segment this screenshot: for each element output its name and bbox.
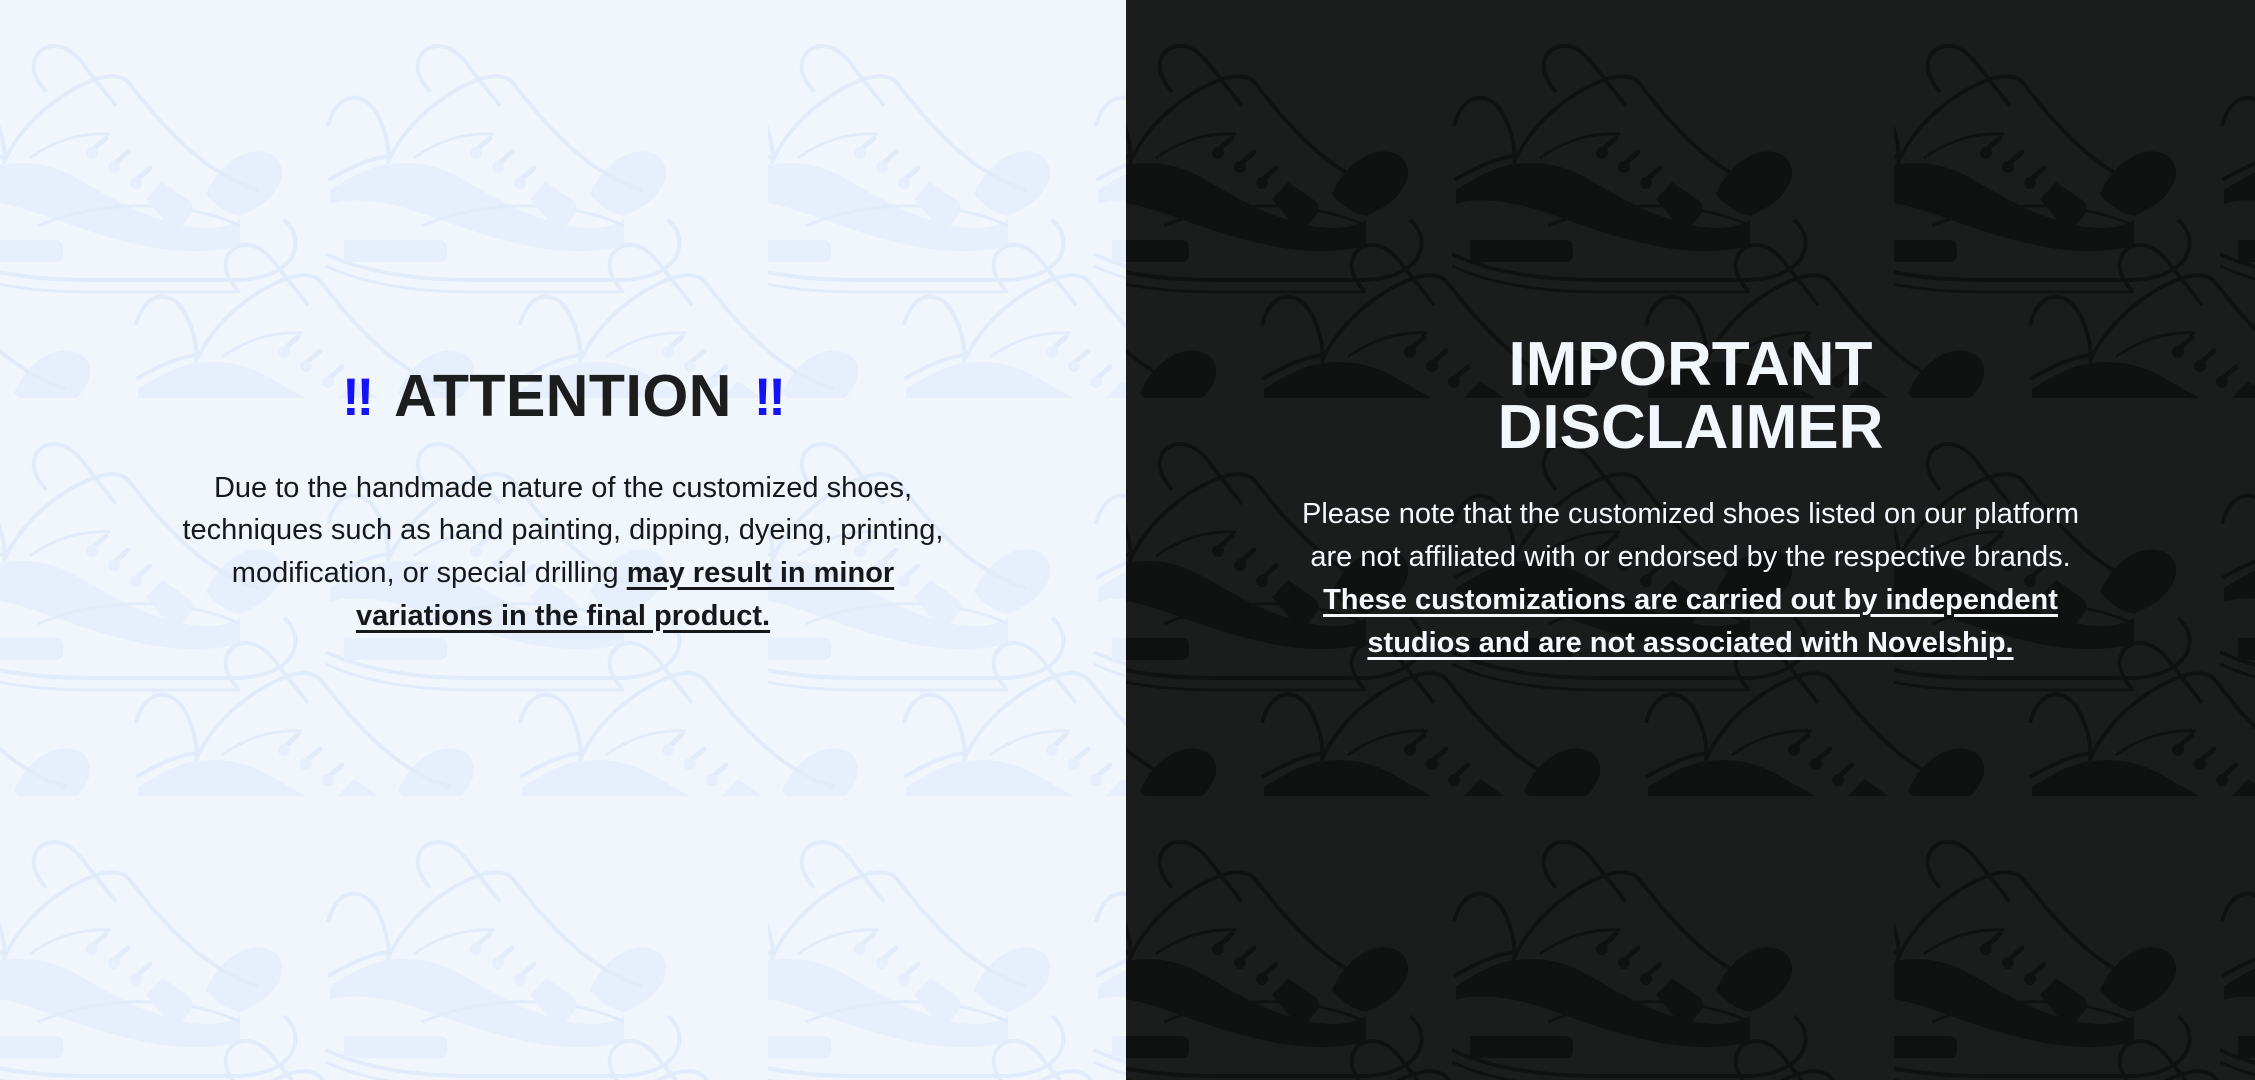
disclaimer-content: IMPORTANTDISCLAIMER Please note that the…: [1126, 0, 2255, 665]
disclaimer-banner: ‼ATTENTION‼ Due to the handmade nature o…: [0, 0, 2255, 1080]
double-exclamation-icon-right: ‼: [754, 368, 784, 427]
disclaimer-heading: IMPORTANTDISCLAIMER: [1498, 333, 1884, 459]
disclaimer-body-normal: Please note that the customized shoes li…: [1302, 498, 2079, 573]
disclaimer-body-emphasis: These customizations are carried out by …: [1323, 584, 2058, 659]
attention-content: ‼ATTENTION‼ Due to the handmade nature o…: [0, 0, 1126, 638]
disclaimer-heading-line2: DISCLAIMER: [1498, 393, 1884, 462]
disclaimer-panel: IMPORTANTDISCLAIMER Please note that the…: [1126, 0, 2255, 1080]
attention-panel: ‼ATTENTION‼ Due to the handmade nature o…: [0, 0, 1126, 1080]
attention-heading-text: ATTENTION: [394, 363, 732, 429]
disclaimer-body: Please note that the customized shoes li…: [1286, 493, 2096, 665]
attention-body: Due to the handmade nature of the custom…: [163, 467, 963, 639]
attention-heading: ‼ATTENTION‼: [342, 365, 784, 428]
disclaimer-heading-line1: IMPORTANT: [1509, 330, 1873, 399]
double-exclamation-icon-left: ‼: [342, 368, 372, 427]
